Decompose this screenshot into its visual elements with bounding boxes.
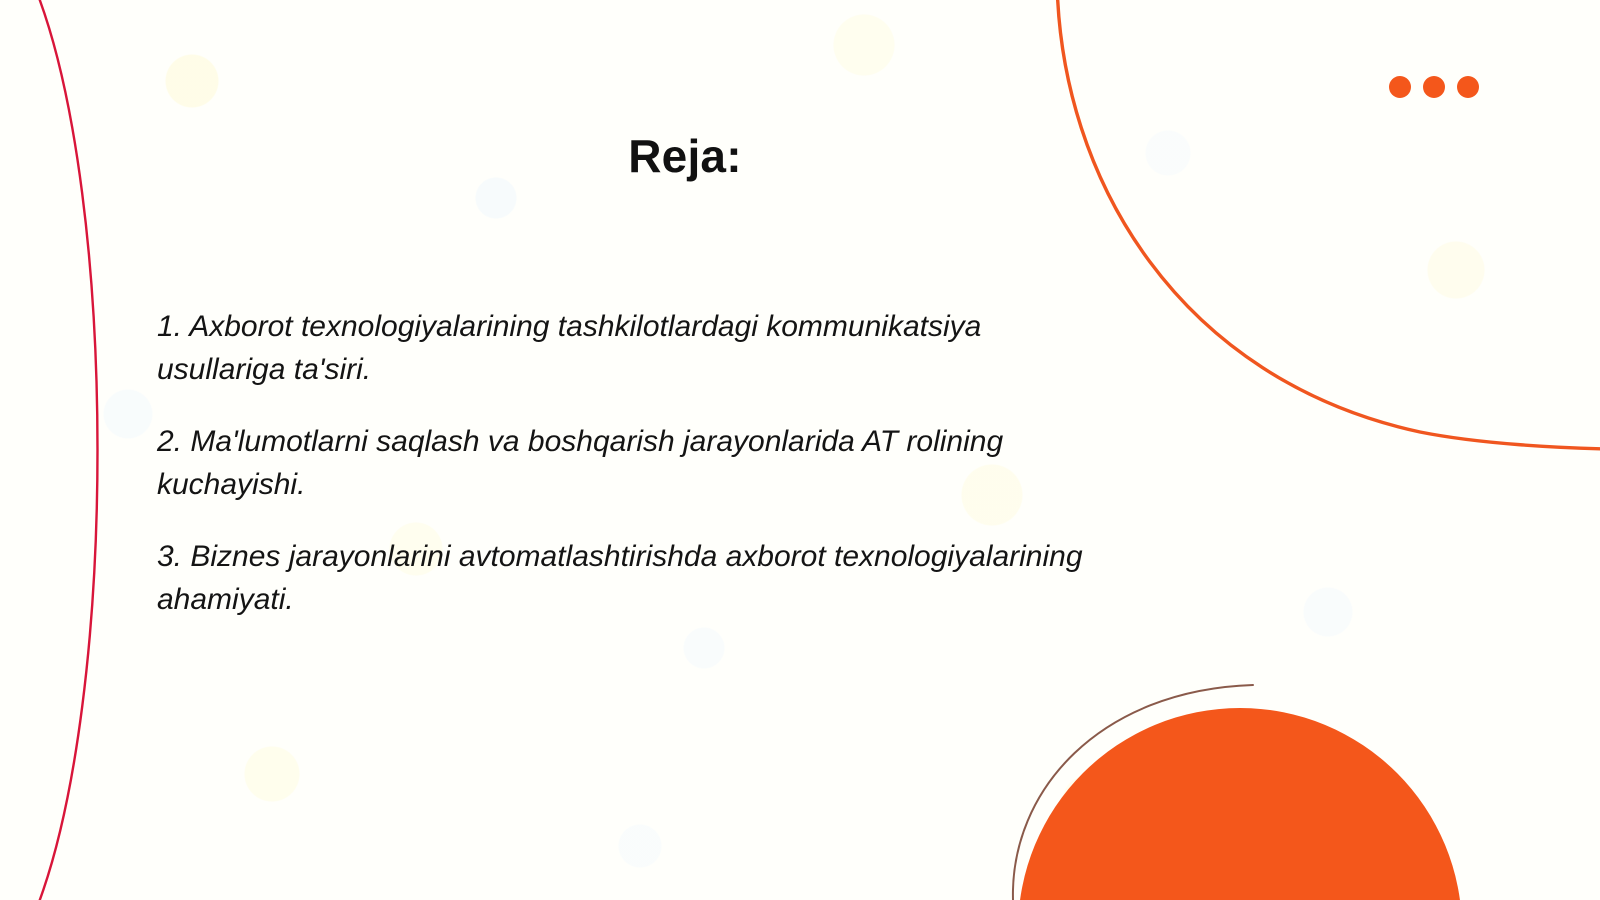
- brown-crescent-arc: [1013, 685, 1253, 900]
- dot-icon: [1457, 76, 1479, 98]
- slide-title: Reja:: [0, 129, 1370, 183]
- agenda-item: 3. Biznes jarayonlarini avtomatlashtiris…: [157, 536, 1117, 621]
- agenda-list: 1. Axborot texnologiyalarining tashkilot…: [157, 276, 1117, 622]
- presentation-slide: Reja: 1. Axborot texnologiyalarining tas…: [0, 0, 1600, 900]
- agenda-item: 1. Axborot texnologiyalarining tashkilot…: [157, 306, 1117, 391]
- dot-icon: [1389, 76, 1411, 98]
- orange-arc-top-right: [1057, 0, 1600, 449]
- decorative-dots: [1389, 76, 1479, 98]
- agenda-item: 2. Ma'lumotlarni saqlash va boshqarish j…: [157, 421, 1117, 506]
- orange-circle-bottom-right: [1018, 708, 1462, 900]
- dot-icon: [1423, 76, 1445, 98]
